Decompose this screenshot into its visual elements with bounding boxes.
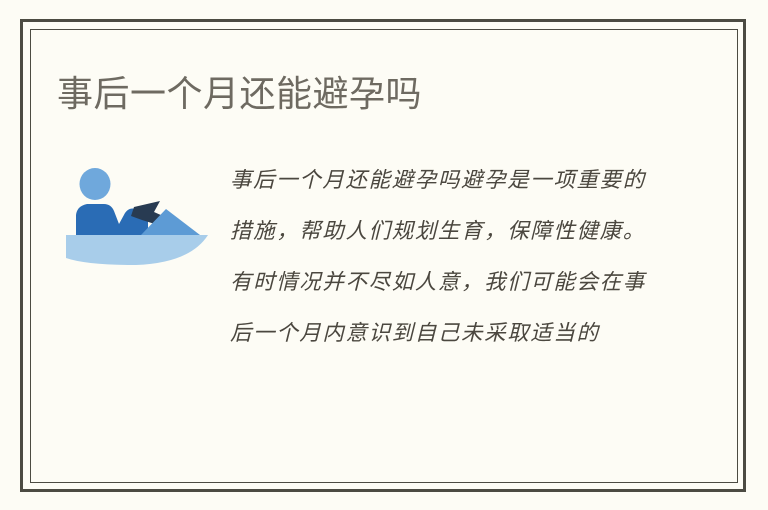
- content-card: 事后一个月还能避孕吗 事后一个月还能避孕吗避孕是一项重要的措施，帮助人们规划生育…: [30, 29, 738, 483]
- article-paragraph: 事后一个月还能避孕吗避孕是一项重要的措施，帮助人们规划生育，保障性健康。有时情况…: [230, 155, 660, 359]
- page-title: 事后一个月还能避孕吗: [57, 73, 422, 114]
- article-body-section: 事后一个月还能避孕吗避孕是一项重要的措施，帮助人们规划生育，保障性健康。有时情况…: [30, 155, 738, 425]
- person-paddling-boat-illustration: [62, 163, 210, 273]
- illustration-head-shape: [80, 168, 111, 200]
- illustration-hull-shape: [66, 235, 208, 265]
- article-page: { "page": { "background_color": "#fdfcf5…: [0, 0, 768, 510]
